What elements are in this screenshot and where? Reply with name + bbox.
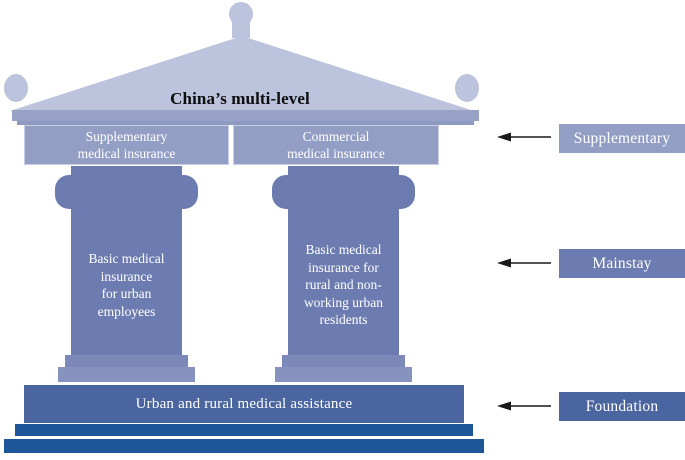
column-left-neck-top [71, 166, 182, 180]
medical-security-system-diagram: China’s multi-level medical security sys… [0, 0, 685, 460]
role-label-mainstay[interactable]: Mainstay [559, 249, 685, 278]
foundation-bar-urban-and-rural-medical-assistance[interactable]: Urban and rural medical assistance [24, 385, 464, 423]
entablature-box-commercial-medical-insurance[interactable]: Commercial medical insurance [233, 125, 439, 165]
column-right-shaft-basic-medical-insurance-rural-nonworking[interactable]: Basic medical insurance for rural and no… [288, 215, 399, 355]
column-left-shaft-basic-medical-insurance-urban-employees[interactable]: Basic medical insurance for urban employ… [71, 215, 182, 355]
pediment-roof: China’s multi-level medical security sys… [10, 36, 474, 111]
arrow-left-icon-foundation [497, 399, 553, 413]
column-right-neck-top [288, 166, 399, 180]
column-right-base-upper [282, 355, 405, 367]
architrave-bar [12, 110, 479, 121]
column-right-capital [272, 175, 415, 209]
role-label-foundation[interactable]: Foundation [559, 392, 685, 421]
column-left-capital [55, 175, 198, 209]
arrow-left-icon-mainstay [497, 256, 553, 270]
column-left-base-upper [65, 355, 188, 367]
arrow-left-icon-supplementary [497, 130, 553, 144]
plinth-lower [4, 439, 484, 453]
plinth-upper [15, 424, 473, 436]
role-label-supplementary[interactable]: Supplementary [559, 124, 685, 153]
column-left-base-lower [58, 367, 195, 382]
column-right-base-lower [275, 367, 412, 382]
entablature-box-supplementary-medical-insurance[interactable]: Supplementary medical insurance [24, 125, 229, 165]
